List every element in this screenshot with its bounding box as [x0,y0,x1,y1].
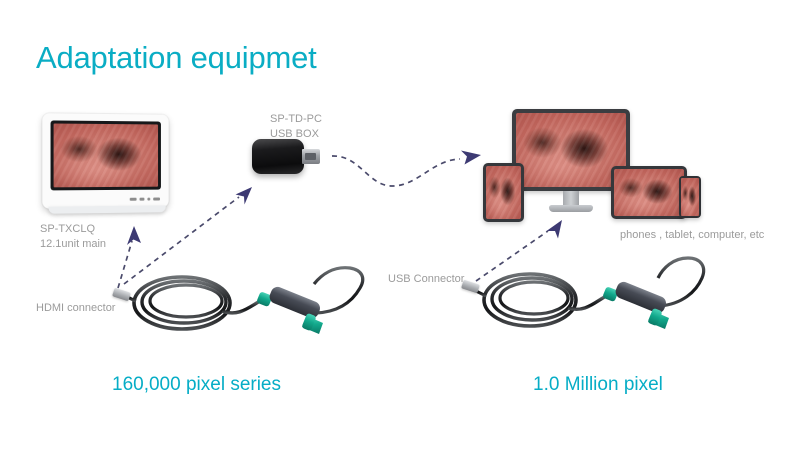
label-usb-box-model: SP-TD-PC [270,112,322,127]
left-monitor-endoscope-image [54,124,158,188]
usb-box-device [252,139,318,174]
endoscope-probe-left [126,258,378,356]
tablet-large-endoscope-image [614,169,684,216]
page-title: Adaptation equipmet [36,40,317,76]
label-monitor-model: SP-TXCLQ [40,222,95,237]
arrow-usbbox-to-devices [332,151,481,187]
caption-right-group: 1.0 Million pixel [533,374,663,396]
monitor-led-icon [147,198,150,201]
monitor-button-icon [130,198,137,201]
monitor-endoscope-image [516,113,626,187]
slide-canvas: Adaptation equipmet SP-TXCLQ 12.1unit ma… [0,0,800,456]
label-monitor-desc: 12.1unit main [40,237,106,252]
usb-box-body [252,139,304,174]
label-devices: phones , tablet, computer, etc [620,228,764,243]
usb-plug-icon [302,149,320,164]
left-monitor-device [42,113,168,209]
monitor-stand-foot [549,205,593,212]
left-monitor-controls [130,198,160,201]
endoscope-probe-right [468,250,716,352]
left-monitor-bezel [51,120,161,190]
tablet-small-endoscope-image [486,166,521,219]
left-monitor-base [48,205,165,213]
caption-left-group: 160,000 pixel series [112,374,281,396]
label-hdmi-connector: HDMI connector [36,301,115,316]
phone-device [679,176,701,218]
device-cluster [480,106,704,222]
monitor-button-icon [140,198,145,201]
phone-endoscope-image [681,178,699,216]
tablet-large-device [611,166,687,219]
tablet-small-device [483,163,524,222]
label-usb-connector: USB Connector [388,272,464,287]
monitor-button-icon [153,198,160,201]
